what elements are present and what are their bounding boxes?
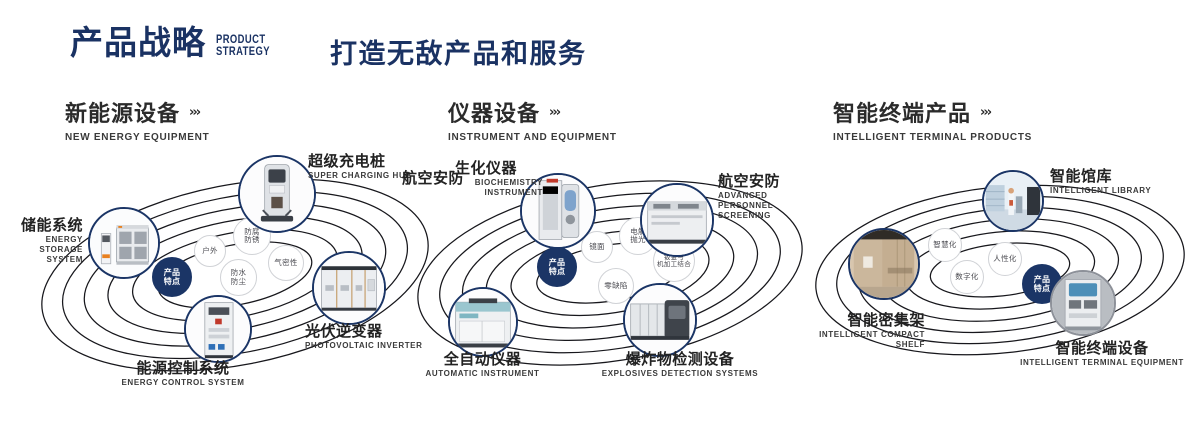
- section-title-text: 仪器设备: [448, 96, 540, 128]
- page-title-en-line2: STRATEGY: [216, 46, 270, 58]
- caption-en: AUTOMATIC INSTRUMENT: [395, 369, 570, 379]
- caption-automatic-instrument: 全自动仪器 AUTOMATIC INSTRUMENT: [395, 351, 570, 379]
- caption-en: INTELLIGENT LIBRARY: [1050, 186, 1151, 196]
- caption-en: INTELLIGENT COMPACT SHELF: [805, 330, 925, 350]
- feature-bubble-text: 产品特点: [1034, 275, 1051, 293]
- feature-bubble-text: 智慧化: [933, 241, 956, 250]
- section-header-new-energy: 新能源设备 ››› NEW ENERGY EQUIPMENT: [65, 96, 209, 143]
- automatic-instrument-photo: [450, 289, 516, 355]
- node-photovoltaic-inverter[interactable]: [312, 251, 386, 325]
- caption-cn: 智能终端设备: [1002, 340, 1200, 357]
- caption-cn: 全自动仪器: [395, 351, 570, 368]
- caption-biochemistry-instrument: 生化仪器 BIOCHEMISTRY INSTRUMENT: [455, 160, 543, 198]
- explosives-detection-systems-photo: [625, 285, 695, 355]
- feature-bubble-primary[interactable]: 产品特点: [537, 247, 577, 287]
- caption-en: PHOTOVOLTAIC INVERTER: [305, 341, 423, 351]
- section-title-en: INTELLIGENT TERMINAL PRODUCTS: [833, 132, 1032, 143]
- feature-bubble-text: 防水防尘: [231, 269, 247, 286]
- section-header-instrument: 仪器设备 ››› INSTRUMENT AND EQUIPMENT: [448, 96, 617, 143]
- section-title-cn: 新能源设备 ›››: [65, 96, 209, 128]
- super-charging-hub-photo: [240, 157, 314, 231]
- caption-en: ADVANCED PERSONNEL SCREENING: [718, 191, 814, 221]
- caption-cn: 航空安防: [718, 173, 814, 190]
- feature-bubble-text: 产品特点: [549, 258, 566, 276]
- energy-control-system-photo: [186, 297, 250, 361]
- feature-bubble-waterproof[interactable]: 防水防尘: [220, 259, 257, 296]
- caption-cn: 智能密集架: [805, 312, 925, 329]
- caption-intelligent-library: 智能馆库 INTELLIGENT LIBRARY: [1050, 168, 1151, 196]
- caption-advanced-personnel-screening: 航空安防 ADVANCED PERSONNEL SCREENING: [718, 173, 814, 221]
- caption-explosives-detection-systems: 爆炸物检测设备 EXPLOSIVES DETECTION SYSTEMS: [570, 351, 790, 379]
- caption-photovoltaic-inverter: 光伏逆变器 PHOTOVOLTAIC INVERTER: [305, 323, 423, 351]
- page-title-en-line1: PRODUCT: [216, 34, 270, 46]
- caption-cn: 储能系统: [5, 217, 83, 234]
- caption-energy-storage-system: 储能系统 ENERGY STORAGE SYSTEM: [5, 217, 83, 265]
- cluster-new-energy: 产品特点 户外 防腐防锈 防水防尘 气密性: [40, 155, 430, 385]
- caption-en: ENERGY STORAGE SYSTEM: [5, 235, 83, 265]
- feature-bubble-intelligentization[interactable]: 智慧化: [928, 228, 962, 262]
- node-intelligent-terminal-equipment[interactable]: [1050, 270, 1116, 336]
- photovoltaic-inverter-photo: [314, 253, 384, 323]
- caption-cn: 光伏逆变器: [305, 323, 423, 340]
- caption-en: INTELLIGENT TERMINAL EQUIPMENT: [1002, 358, 1200, 368]
- page-subtitle: 打造无敌产品和服务: [330, 32, 587, 71]
- node-energy-storage-system[interactable]: [88, 207, 160, 279]
- page-title: 产品战略 PRODUCT STRATEGY: [70, 26, 282, 59]
- intelligent-library-photo: [984, 172, 1042, 230]
- caption-en: BIOCHEMISTRY INSTRUMENT: [455, 178, 543, 198]
- feature-bubble-text: 数字化: [955, 273, 978, 282]
- feature-bubble-text: 气密性: [274, 259, 297, 268]
- section-title-text: 新能源设备: [65, 96, 180, 128]
- node-energy-control-system[interactable]: [184, 295, 252, 363]
- feature-bubble-airtightness[interactable]: 气密性: [268, 245, 304, 281]
- feature-bubble-outdoor[interactable]: 户外: [194, 235, 226, 267]
- feature-bubble-digitalization[interactable]: 数字化: [950, 260, 984, 294]
- section-title-en: INSTRUMENT AND EQUIPMENT: [448, 132, 617, 143]
- cluster-intelligent-terminal: 智慧化 数字化 人性化 产品特点: [810, 160, 1200, 390]
- caption-cn: 爆炸物检测设备: [570, 351, 790, 368]
- caption-intelligent-terminal-equipment: 智能终端设备 INTELLIGENT TERMINAL EQUIPMENT: [1002, 340, 1200, 368]
- caption-energy-control-system: 能源控制系统 ENERGY CONTROL SYSTEM: [88, 360, 278, 388]
- caption-cn: 生化仪器: [455, 160, 543, 177]
- chevron-right-icon: ›››: [549, 105, 559, 120]
- page-title-cn: 产品战略: [70, 26, 206, 59]
- feature-bubble-text: 产品特点: [164, 268, 181, 286]
- energy-storage-system-photo: [90, 209, 158, 277]
- caption-intelligent-compact-shelf: 智能密集架 INTELLIGENT COMPACT SHELF: [805, 312, 925, 350]
- section-title-cn: 智能终端产品 ›››: [833, 96, 1032, 128]
- node-automatic-instrument[interactable]: [448, 287, 518, 357]
- feature-bubble-text: 人性化: [993, 255, 1016, 264]
- feature-bubble-primary[interactable]: 产品特点: [152, 257, 192, 297]
- chevron-right-icon: ›››: [980, 105, 990, 120]
- node-advanced-personnel-screening[interactable]: [640, 183, 714, 257]
- node-super-charging-hub[interactable]: [238, 155, 316, 233]
- feature-bubble-text: 户外: [202, 247, 218, 256]
- caption-cn: 能源控制系统: [88, 360, 278, 377]
- node-intelligent-compact-shelf[interactable]: [848, 228, 920, 300]
- section-header-intelligent-terminal: 智能终端产品 ››› INTELLIGENT TERMINAL PRODUCTS: [833, 96, 1032, 143]
- caption-en: EXPLOSIVES DETECTION SYSTEMS: [570, 369, 790, 379]
- chevron-right-icon: ›››: [189, 105, 199, 120]
- feature-bubble-humanization[interactable]: 人性化: [988, 242, 1022, 276]
- page-title-en: PRODUCT STRATEGY: [216, 34, 270, 58]
- section-title-cn: 仪器设备 ›››: [448, 96, 617, 128]
- intelligent-compact-shelf-photo: [850, 230, 918, 298]
- caption-en: SUPER CHARGING HUB: [308, 171, 412, 181]
- node-intelligent-library[interactable]: [982, 170, 1044, 232]
- product-strategy-infographic: 产品战略 PRODUCT STRATEGY 打造无敌产品和服务 新能源设备 ››…: [0, 0, 1200, 422]
- node-explosives-detection-systems[interactable]: [623, 283, 697, 357]
- cluster-instrument: 产品特点 镜面 电解抛光 钣金与机加工结合 零缺陷 航空安防: [415, 155, 805, 385]
- section-title-en: NEW ENERGY EQUIPMENT: [65, 132, 209, 143]
- advanced-personnel-screening-photo: [642, 185, 712, 255]
- caption-en: ENERGY CONTROL SYSTEM: [88, 378, 278, 388]
- caption-cn: 智能馆库: [1050, 168, 1151, 185]
- section-title-text: 智能终端产品: [833, 96, 971, 128]
- intelligent-terminal-equipment-photo: [1052, 272, 1114, 334]
- caption-cn: 超级充电桩: [308, 153, 412, 170]
- caption-super-charging-hub: 超级充电桩 SUPER CHARGING HUB: [308, 153, 412, 181]
